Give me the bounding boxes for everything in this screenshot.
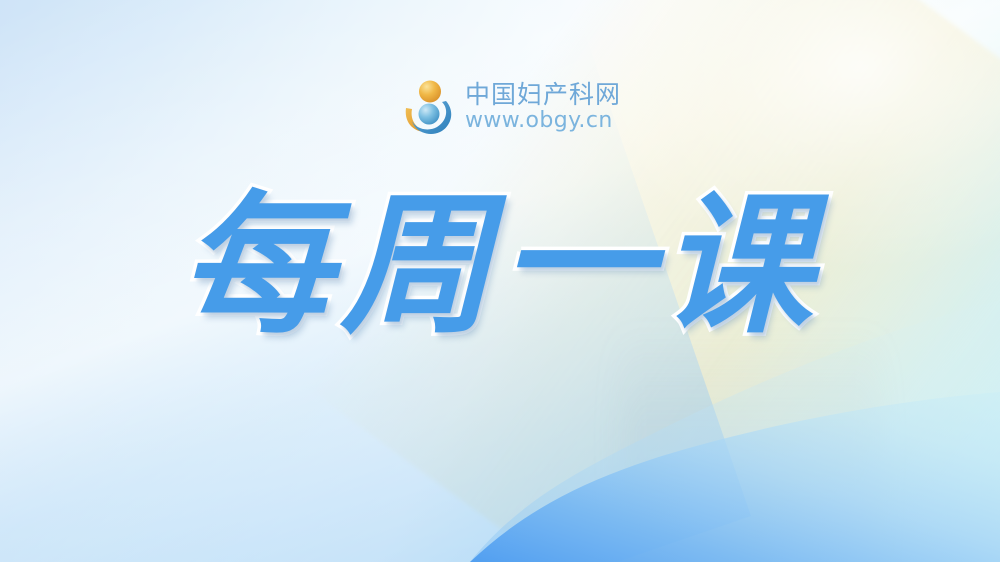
site-logo-lockup[interactable]: 中国妇产科网 www.obgy.cn <box>402 78 621 136</box>
logo-text-block: 中国妇产科网 www.obgy.cn <box>465 82 621 132</box>
background-grey-haze <box>620 326 880 562</box>
main-title-container: 每周一课 <box>0 186 1000 346</box>
obgy-figure-logo-icon <box>402 78 456 136</box>
page-title: 每周一课 <box>170 186 830 346</box>
slide-canvas: 中国妇产科网 www.obgy.cn 每周一课 <box>0 0 1000 562</box>
logo-organization-name: 中国妇产科网 <box>465 82 621 107</box>
logo-website-url: www.obgy.cn <box>465 110 621 132</box>
